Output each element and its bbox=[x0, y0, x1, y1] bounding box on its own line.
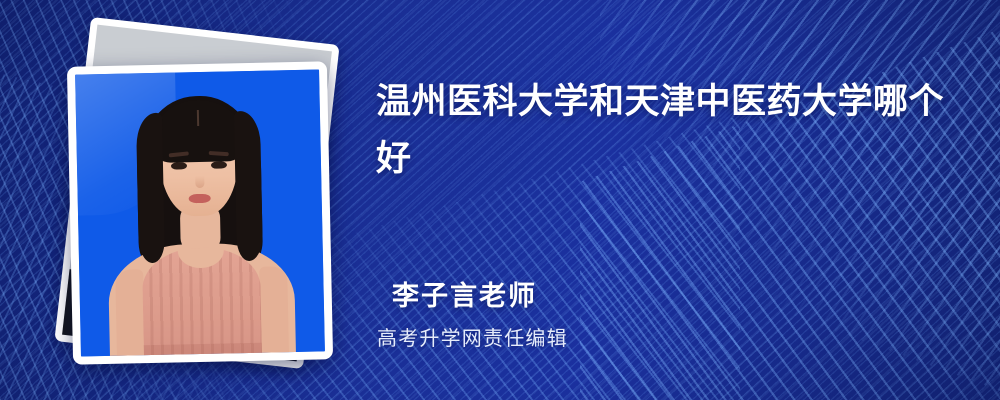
author-name: 李子言老师 bbox=[392, 274, 537, 313]
portrait-arm-right bbox=[259, 266, 289, 365]
portrait-nose bbox=[195, 176, 204, 188]
photo-card-stack bbox=[46, 28, 346, 373]
article-cover-banner: 温州医科大学和天津中医药大学哪个好 李子言老师 高考升学网责任编辑 bbox=[0, 0, 1000, 400]
page-title: 温州医科大学和天津中医药大学哪个好 bbox=[376, 74, 976, 187]
avatar bbox=[75, 69, 325, 356]
portrait-mouth bbox=[189, 194, 211, 203]
portrait-eye-right bbox=[211, 161, 227, 168]
portrait-hair-left bbox=[136, 113, 165, 264]
photo-card-icon bbox=[67, 61, 333, 364]
portrait-eye-left bbox=[171, 162, 187, 169]
portrait-hair-right bbox=[234, 111, 263, 262]
author-role-label: 高考升学网责任编辑 bbox=[377, 322, 568, 351]
portrait-arm-left bbox=[115, 269, 145, 364]
portrait-waistline bbox=[144, 343, 262, 359]
